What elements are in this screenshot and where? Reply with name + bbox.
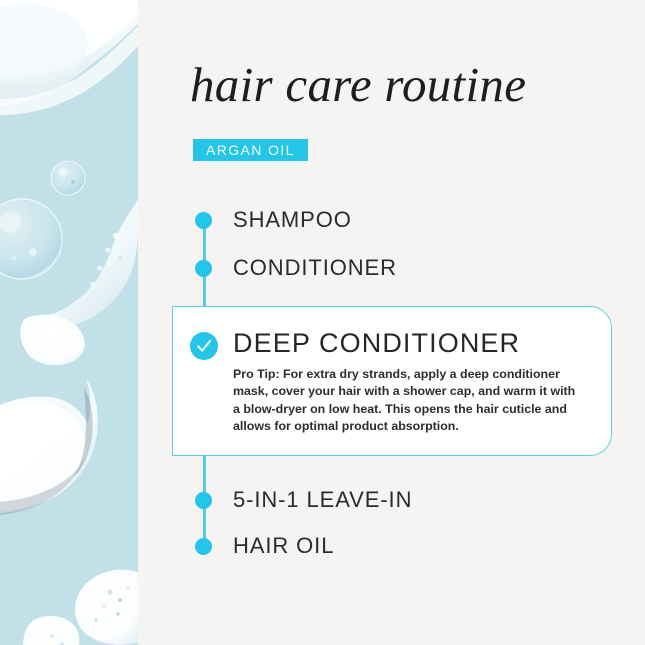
pro-tip-lead: Pro Tip: xyxy=(233,367,280,381)
timeline-dot-icon xyxy=(195,538,212,555)
product-texture-image xyxy=(0,0,138,645)
step-label: HAIR OIL xyxy=(233,531,334,561)
texture-graphic xyxy=(0,0,138,645)
argan-oil-badge: ARGAN OIL xyxy=(193,139,308,161)
pro-tip-body: For extra dry strands, apply a deep cond… xyxy=(233,367,575,433)
highlight-step-title: DEEP CONDITIONER xyxy=(233,328,520,359)
page-title: hair care routine xyxy=(190,60,645,110)
step-label: 5-IN-1 LEAVE-IN xyxy=(233,485,412,515)
hair-care-routine-poster: hair care routine ARGAN OIL SHAMPOO COND… xyxy=(0,0,645,645)
timeline-dot-icon xyxy=(195,260,212,277)
timeline-dot-icon xyxy=(195,212,212,229)
check-icon xyxy=(190,332,218,360)
step-label: CONDITIONER xyxy=(233,253,397,283)
pro-tip-text: Pro Tip: For extra dry strands, apply a … xyxy=(233,366,578,436)
timeline-dot-icon xyxy=(195,492,212,509)
step-label: SHAMPOO xyxy=(233,205,352,235)
